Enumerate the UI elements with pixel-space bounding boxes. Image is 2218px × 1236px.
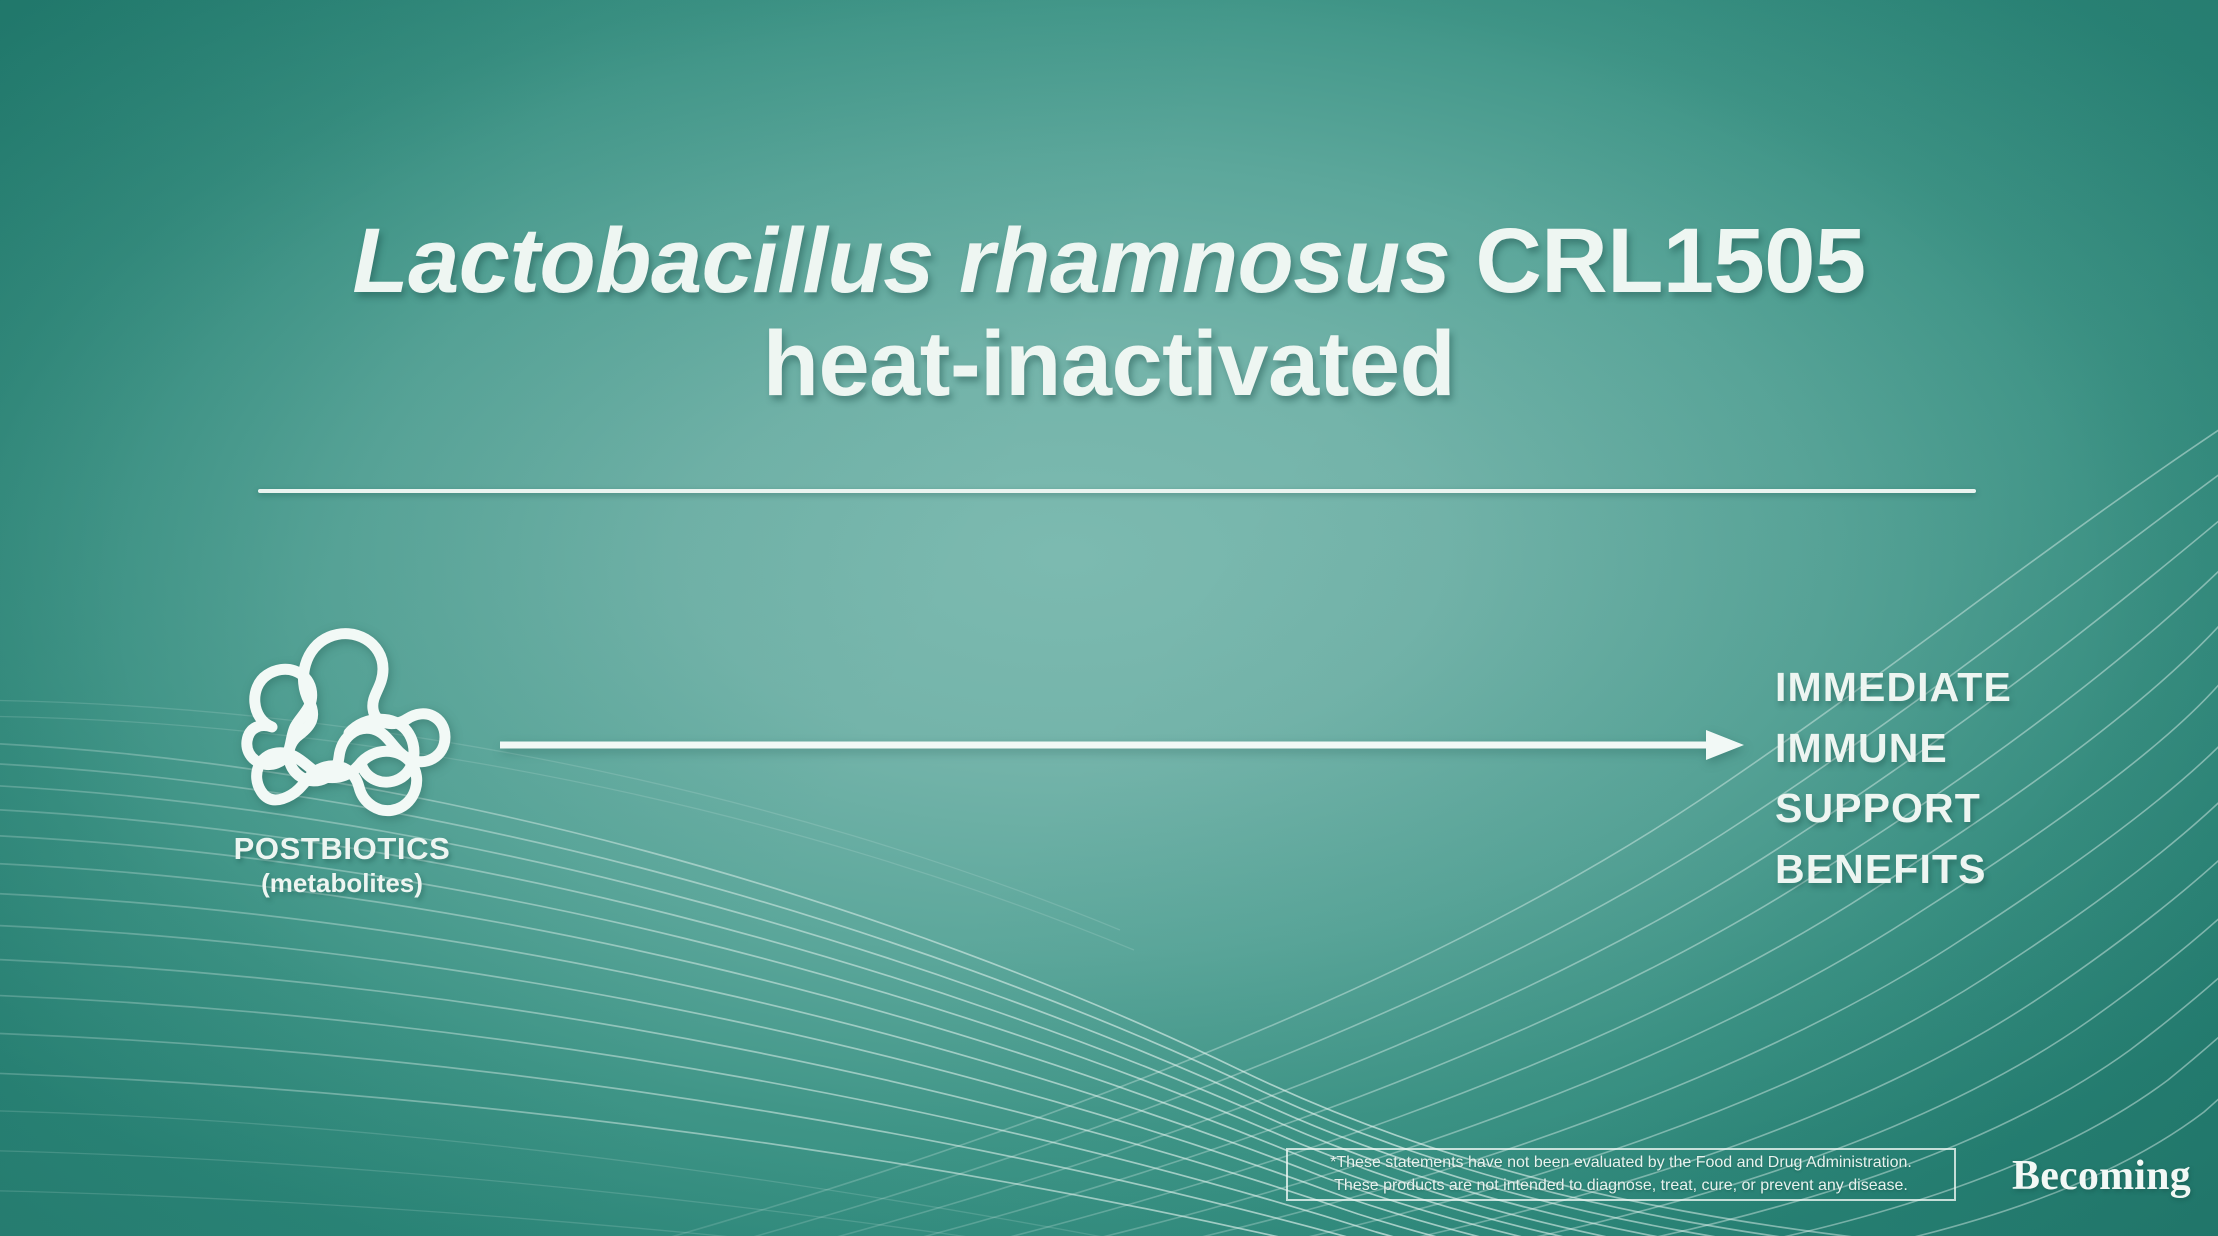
title-strain: CRL1505 xyxy=(1475,210,1865,312)
slide-canvas: Lactobacillus rhamnosus CRL1505 heat-ina… xyxy=(0,0,2218,1236)
benefit-line-1: IMMEDIATE xyxy=(1775,657,2175,718)
postbiotics-sublabel: (metabolites) xyxy=(222,868,462,899)
benefit-line-2: IMMUNE xyxy=(1775,718,2175,779)
flow-diagram: POSTBIOTICS (metabolites) IMMEDIATE IMMU… xyxy=(0,615,2218,915)
title-divider xyxy=(258,489,1976,493)
brand-logo-becoming: Becoming xyxy=(2012,1152,2191,1200)
fda-disclaimer-box: *These statements have not been evaluate… xyxy=(1286,1148,1956,1201)
title-line-1: Lactobacillus rhamnosus CRL1505 xyxy=(0,212,2218,311)
immune-benefits-node: IMMEDIATE IMMUNE SUPPORT BENEFITS xyxy=(1775,657,2175,900)
disclaimer-line-1: *These statements have not been evaluate… xyxy=(1330,1152,1912,1175)
title-line-2: heat-inactivated xyxy=(0,315,2218,414)
slide-title-block: Lactobacillus rhamnosus CRL1505 heat-ina… xyxy=(0,212,2218,415)
benefit-line-4: BENEFITS xyxy=(1775,839,2175,900)
postbiotics-node: POSTBIOTICS (metabolites) xyxy=(222,615,462,899)
postbiotics-molecule-icon xyxy=(231,615,453,825)
disclaimer-line-2: These products are not intended to diagn… xyxy=(1334,1175,1908,1198)
title-species: Lactobacillus rhamnosus xyxy=(352,210,1450,312)
flow-arrow-right-icon xyxy=(500,725,1750,765)
postbiotics-label: POSTBIOTICS xyxy=(222,831,462,867)
benefit-line-3: SUPPORT xyxy=(1775,778,2175,839)
